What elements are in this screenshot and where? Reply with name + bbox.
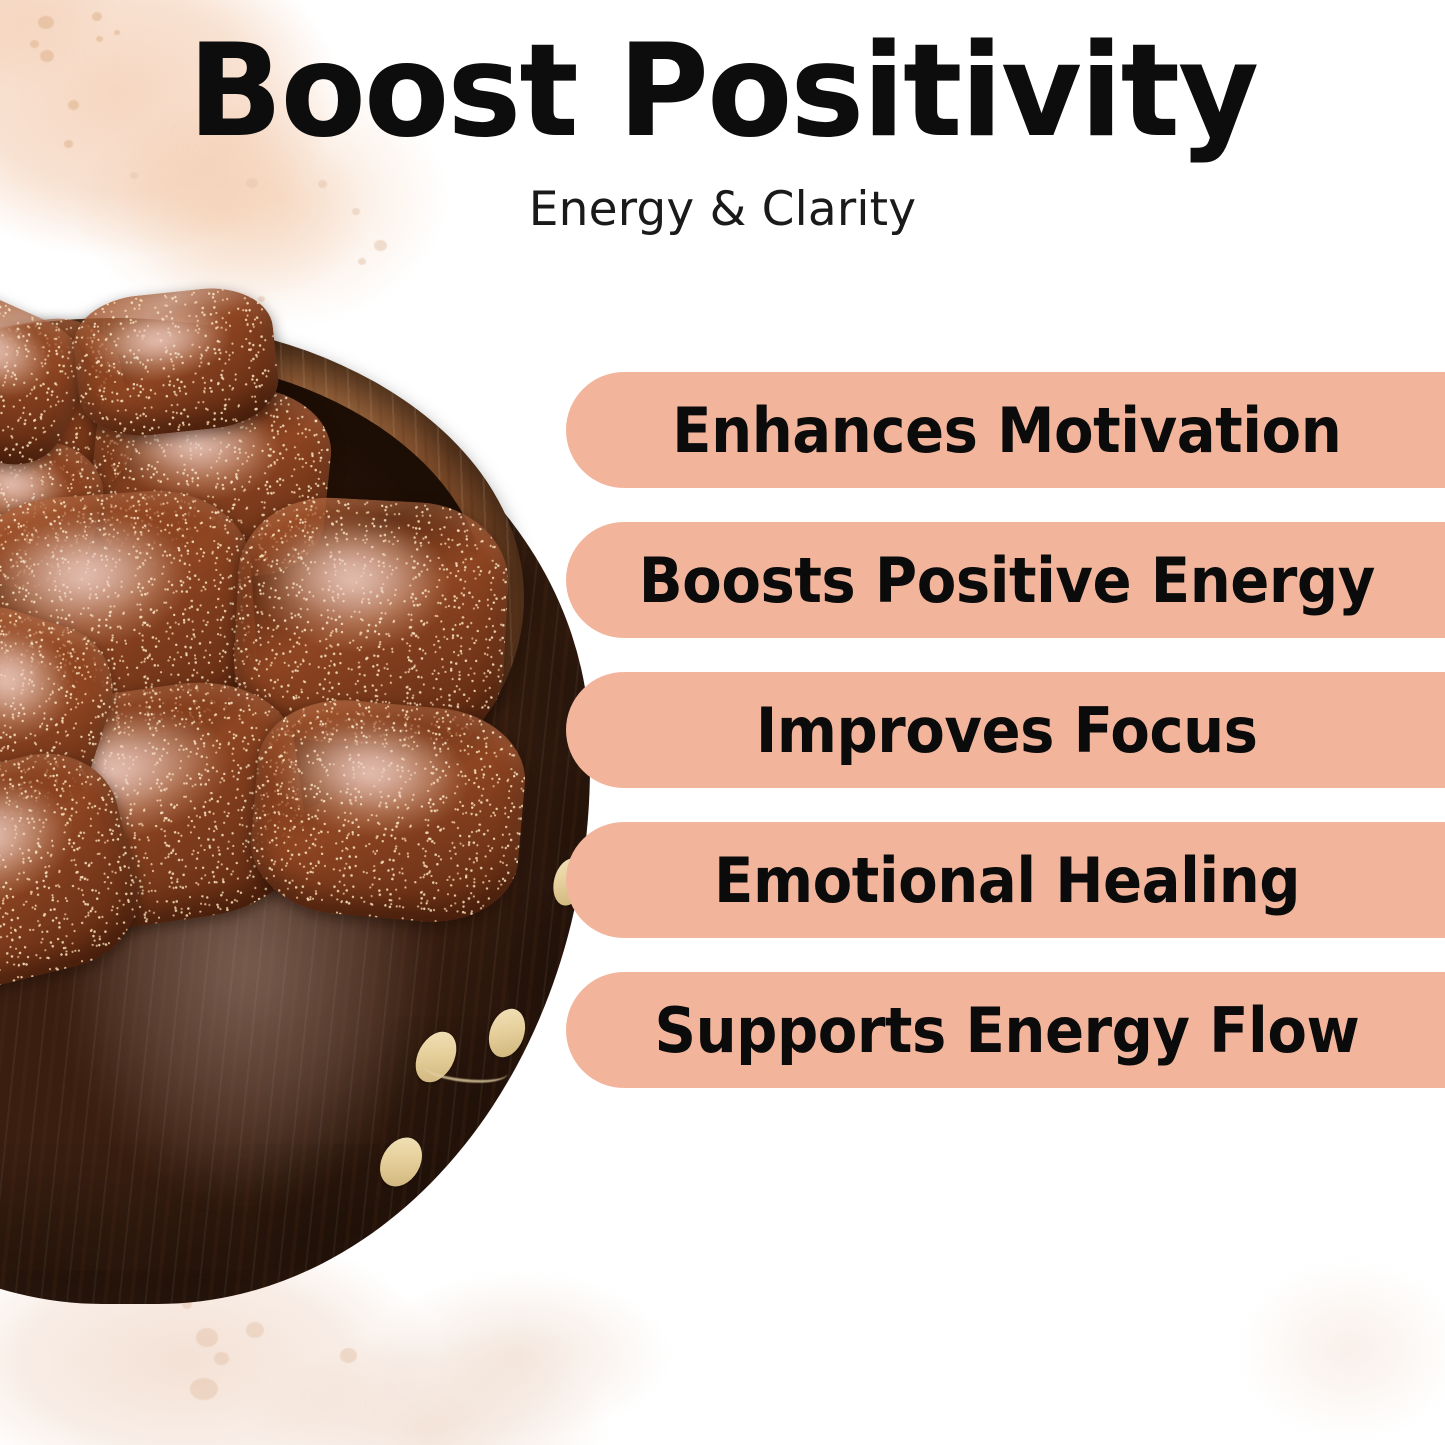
benefit-pill[interactable]: Supports Energy Flow bbox=[566, 972, 1445, 1088]
benefit-label: Improves Focus bbox=[756, 694, 1258, 767]
paint-speckle bbox=[190, 1378, 218, 1400]
benefits-list: Enhances Motivation Boosts Positive Ener… bbox=[566, 372, 1445, 1088]
paint-speckle bbox=[214, 1352, 229, 1365]
goldstone-pebble bbox=[69, 282, 283, 442]
poster-canvas: Boost Positivity Energy & Clarity Enhanc… bbox=[0, 0, 1445, 1445]
benefit-pill[interactable]: Enhances Motivation bbox=[566, 372, 1445, 488]
goldstone-pebble bbox=[245, 693, 531, 930]
paint-speckle bbox=[130, 172, 138, 179]
paint-speckle bbox=[358, 258, 366, 265]
benefit-pill[interactable]: Improves Focus bbox=[566, 672, 1445, 788]
paint-speckle bbox=[374, 240, 387, 251]
paint-speckle bbox=[340, 1348, 357, 1363]
benefit-label: Emotional Healing bbox=[714, 844, 1300, 917]
benefit-label: Supports Energy Flow bbox=[655, 994, 1360, 1067]
paint-speckle bbox=[246, 1322, 264, 1338]
page-title: Boost Positivity bbox=[22, 28, 1424, 156]
benefit-label: Boosts Positive Energy bbox=[639, 544, 1375, 617]
page-subtitle: Energy & Clarity bbox=[0, 182, 1445, 237]
paint-speckle bbox=[196, 1328, 218, 1347]
benefit-pill[interactable]: Emotional Healing bbox=[566, 822, 1445, 938]
watercolor-wash-bottom-right bbox=[1180, 1210, 1445, 1445]
product-photo-goldstone-bowl bbox=[0, 318, 590, 1308]
benefit-pill[interactable]: Boosts Positive Energy bbox=[566, 522, 1445, 638]
paint-speckle bbox=[92, 12, 102, 21]
benefit-label: Enhances Motivation bbox=[672, 394, 1341, 467]
